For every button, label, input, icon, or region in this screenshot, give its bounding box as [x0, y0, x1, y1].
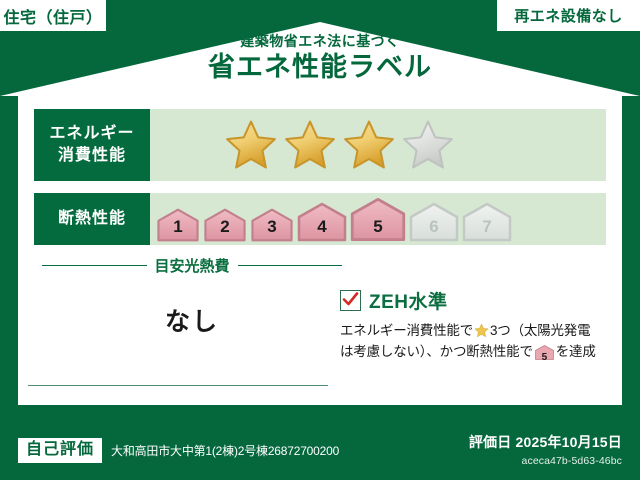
zeh-title: ZEH水準	[369, 287, 448, 314]
star-rating	[224, 118, 455, 172]
house-icon	[462, 202, 512, 242]
tag-building-type: 住宅（住戸）	[0, 0, 106, 31]
insulation-performance-value: 1234567	[150, 193, 606, 245]
zeh-description: エネルギー消費性能で3つ（太陽光発電 は考慮しない）、かつ断熱性能で5を達成	[340, 321, 612, 367]
page-title: 省エネ性能ラベル	[0, 51, 640, 85]
insulation-performance-label-text: 断熱性能	[58, 208, 126, 230]
zeh-desc-part3: を達成	[556, 344, 596, 359]
energy-performance-row: エネルギー 消費性能	[34, 109, 606, 181]
utility-cost-underline	[28, 385, 328, 386]
insulation-performance-row: 断熱性能 1234567	[34, 193, 606, 245]
heading-rule-right	[238, 265, 343, 266]
utility-cost-section: 目安光熱費 なし	[42, 255, 342, 338]
insulation-grade-4: 4	[297, 202, 347, 242]
house-icon	[409, 202, 459, 242]
utility-cost-heading-text: 目安光熱費	[155, 255, 230, 276]
insulation-grade-2: 2	[203, 208, 247, 242]
zeh-checkbox[interactable]	[340, 290, 361, 311]
utility-cost-heading: 目安光熱費	[42, 255, 342, 276]
star-icon-filled	[342, 118, 396, 172]
energy-performance-label: エネルギー 消費性能	[34, 109, 150, 181]
tag-renewable-energy: 再エネ設備なし	[497, 0, 640, 31]
energy-performance-value	[150, 109, 606, 181]
house-icon	[203, 208, 247, 242]
zeh-desc-stars: 3つ（太陽光発電	[490, 323, 590, 338]
title-subtitle: 建築物省エネ法に基づく	[0, 34, 640, 49]
footer-left: 自己評価 大和高田市大中第1(2棟)2号棟26872700200	[18, 438, 339, 463]
insulation-grade-6: 6	[409, 202, 459, 242]
star-icon	[474, 323, 489, 338]
footer-right: 評価日 2025年10月15日 aceca47b-5d63-46bc	[469, 432, 622, 467]
house-icon	[156, 208, 200, 242]
house-icon	[297, 202, 347, 242]
property-address: 大和高田市大中第1(2棟)2号棟26872700200	[111, 442, 339, 459]
zeh-heading: ZEH水準	[340, 287, 612, 314]
check-icon	[342, 291, 359, 308]
star-icon-filled	[283, 118, 337, 172]
insulation-performance-label: 断熱性能	[34, 193, 150, 245]
insulation-grade-3: 3	[250, 208, 294, 242]
insulation-grade-scale: 1234567	[156, 197, 512, 242]
tag-building-type-label: 住宅（住戸）	[3, 4, 102, 28]
insulation-grade-5: 5	[350, 197, 406, 242]
house-icon	[350, 197, 406, 242]
zeh-section: ZEH水準 エネルギー消費性能で3つ（太陽光発電 は考慮しない）、かつ断熱性能で…	[340, 287, 612, 367]
insulation-grade-1: 1	[156, 208, 200, 242]
star-icon-empty	[401, 118, 455, 172]
house-badge-number: 5	[535, 350, 554, 366]
energy-performance-label-line1: エネルギー	[49, 123, 134, 145]
evaluation-date: 評価日 2025年10月15日	[469, 432, 622, 452]
zeh-desc-part1: エネルギー消費性能で	[340, 323, 473, 338]
house-icon	[250, 208, 294, 242]
zeh-desc-part2: は考慮しない）、かつ断熱性能で	[340, 344, 533, 359]
energy-performance-label: 住宅（住戸） 再エネ設備なし 建築物省エネ法に基づく 省エネ性能ラベル エネルギ…	[0, 0, 640, 480]
utility-cost-value: なし	[42, 302, 342, 338]
energy-performance-label-line2: 消費性能	[58, 145, 126, 167]
label-title-block: 建築物省エネ法に基づく 省エネ性能ラベル	[0, 34, 640, 85]
house-badge-icon: 5	[535, 345, 554, 367]
evaluation-id: aceca47b-5d63-46bc	[469, 455, 622, 467]
tag-renewable-energy-label: 再エネ設備なし	[514, 5, 623, 26]
star-icon-filled	[224, 118, 278, 172]
insulation-grade-7: 7	[462, 202, 512, 242]
heading-rule-left	[42, 265, 147, 266]
self-evaluation-badge: 自己評価	[18, 438, 102, 463]
label-card: エネルギー 消費性能 断熱性能 1234567 目安光熱費 なし	[18, 95, 622, 405]
